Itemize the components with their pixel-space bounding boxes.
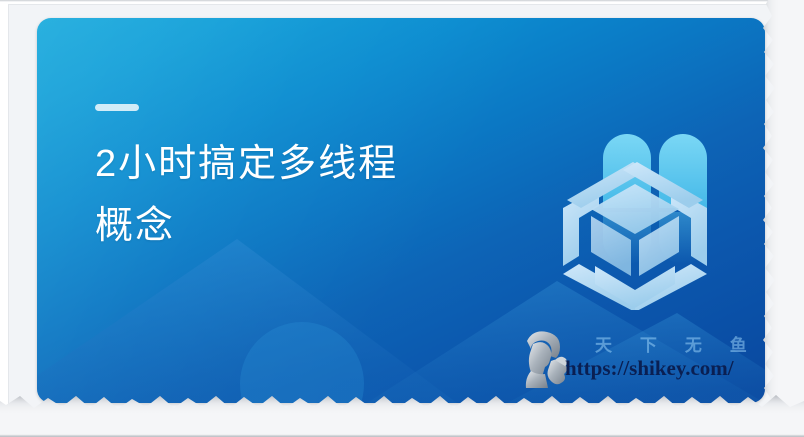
watermark-url: https://shikey.com/ <box>565 356 734 381</box>
slide-title-line-1: 2小时搞定多线程 <box>95 133 565 195</box>
isometric-cube-logo <box>541 80 741 310</box>
headline-block: 2小时搞定多线程 概念 <box>95 104 565 257</box>
slide-card: 2小时搞定多线程 概念 <box>37 18 765 403</box>
watermark: 天 下 无 鱼 https://shikey.com/ <box>503 323 753 395</box>
slide-title-line-2: 概念 <box>95 195 565 257</box>
circle-flourish <box>237 319 367 403</box>
screenshot-page: 2小时搞定多线程 概念 <box>0 0 804 437</box>
watermark-site-name: 天 下 无 鱼 <box>595 331 758 356</box>
accent-dash <box>95 104 139 111</box>
top-rule-divider <box>0 0 804 2</box>
